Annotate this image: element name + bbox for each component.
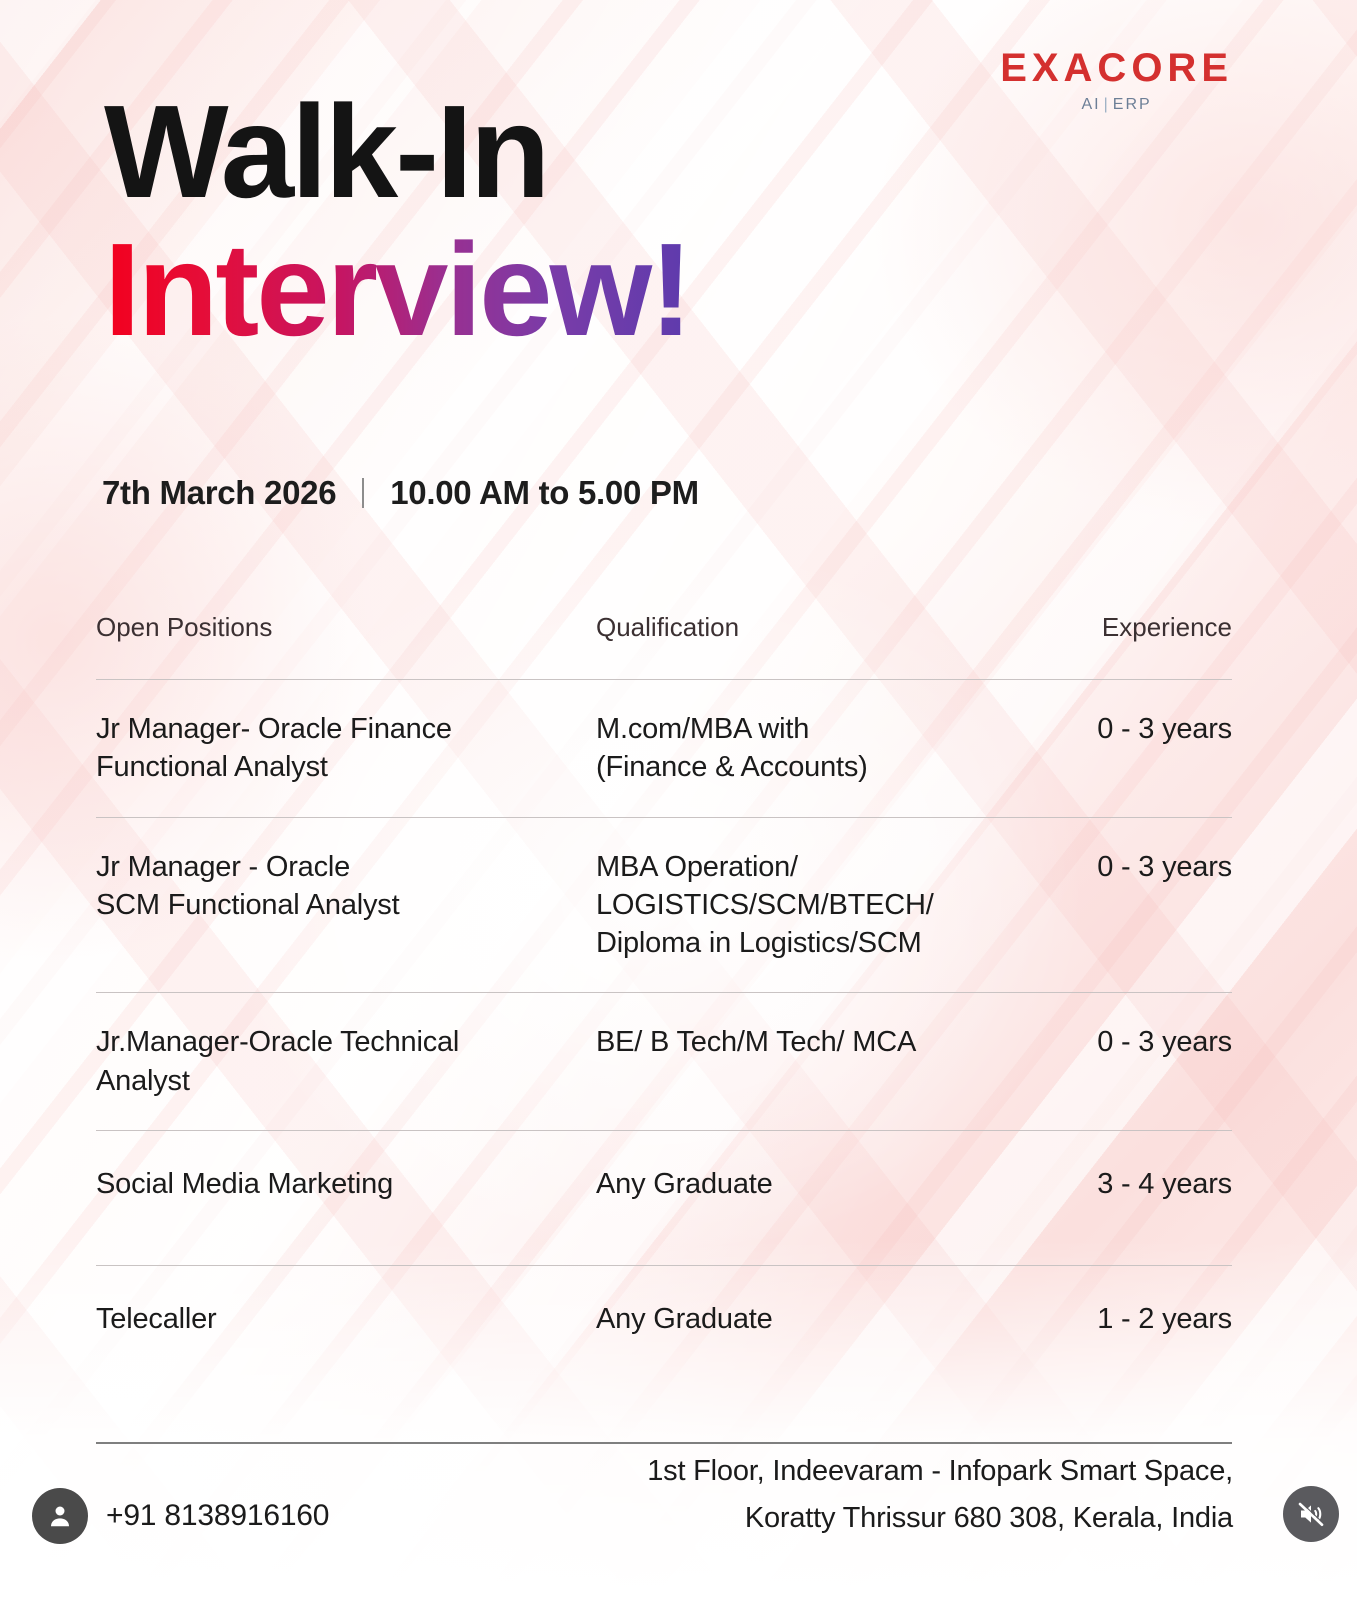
table-header-row: Open Positions Qualification Experience bbox=[96, 612, 1232, 679]
column-header-qualification: Qualification bbox=[596, 612, 1066, 643]
table-row: Jr.Manager-Oracle Technical Analyst BE/ … bbox=[96, 993, 1232, 1130]
position-line: Jr Manager - Oracle bbox=[96, 848, 596, 886]
position-line: Social Media Marketing bbox=[96, 1165, 596, 1203]
cell-position: Social Media Marketing bbox=[96, 1165, 596, 1203]
position-line: Telecaller bbox=[96, 1300, 596, 1338]
position-line: Functional Analyst bbox=[96, 748, 596, 786]
event-date: 7th March 2026 bbox=[102, 474, 336, 512]
footer-separator bbox=[96, 1442, 1232, 1444]
headline-line-walk-in: Walk-In bbox=[104, 84, 690, 220]
address-line-1: 1st Floor, Indeevaram - Infopark Smart S… bbox=[647, 1448, 1233, 1495]
position-line: SCM Functional Analyst bbox=[96, 886, 596, 924]
qualification-line: Any Graduate bbox=[596, 1165, 1066, 1203]
cell-experience: 1 - 2 years bbox=[1066, 1300, 1232, 1338]
logo-tagline-separator: | bbox=[1104, 96, 1110, 113]
cell-qualification: BE/ B Tech/M Tech/ MCA bbox=[596, 1023, 1066, 1061]
address-line-2: Koratty Thrissur 680 308, Kerala, India bbox=[647, 1495, 1233, 1542]
cell-qualification: Any Graduate bbox=[596, 1165, 1066, 1203]
cell-qualification: MBA Operation/ LOGISTICS/SCM/BTECH/ Dipl… bbox=[596, 848, 1066, 963]
column-header-open-positions: Open Positions bbox=[96, 612, 596, 643]
cell-experience: 0 - 3 years bbox=[1066, 1023, 1232, 1061]
logo-tagline-erp: ERP bbox=[1113, 96, 1152, 113]
qualification-line: M.com/MBA with bbox=[596, 710, 1066, 748]
table-row: Jr Manager- Oracle Finance Functional An… bbox=[96, 680, 1232, 817]
logo-brand-text: EXACORE bbox=[1000, 48, 1233, 88]
position-line: Jr Manager- Oracle Finance bbox=[96, 710, 596, 748]
logo-tagline: AI|ERP bbox=[1000, 97, 1233, 113]
cell-experience: 3 - 4 years bbox=[1066, 1165, 1232, 1203]
datetime-separator bbox=[362, 478, 364, 508]
qualification-line: (Finance & Accounts) bbox=[596, 748, 1066, 786]
phone-number: +91 8138916160 bbox=[106, 1499, 329, 1533]
position-line: Analyst bbox=[96, 1062, 596, 1100]
cell-position: Jr Manager - Oracle SCM Functional Analy… bbox=[96, 848, 596, 925]
person-icon bbox=[32, 1488, 88, 1544]
event-datetime: 7th March 2026 10.00 AM to 5.00 PM bbox=[102, 474, 699, 512]
cell-position: Jr.Manager-Oracle Technical Analyst bbox=[96, 1023, 596, 1100]
cell-position: Telecaller bbox=[96, 1300, 596, 1338]
event-time: 10.00 AM to 5.00 PM bbox=[390, 474, 699, 512]
speaker-muted-icon[interactable] bbox=[1283, 1486, 1339, 1542]
cell-qualification: M.com/MBA with (Finance & Accounts) bbox=[596, 710, 1066, 787]
qualification-line: BE/ B Tech/M Tech/ MCA bbox=[596, 1023, 1066, 1061]
open-positions-table: Open Positions Qualification Experience … bbox=[96, 612, 1232, 1400]
contact-phone: +91 8138916160 bbox=[32, 1488, 329, 1544]
company-logo: EXACORE AI|ERP bbox=[1000, 48, 1233, 113]
table-row: Jr Manager - Oracle SCM Functional Analy… bbox=[96, 818, 1232, 993]
table-row: Social Media Marketing Any Graduate 3 - … bbox=[96, 1131, 1232, 1265]
qualification-line: MBA Operation/ bbox=[596, 848, 1066, 886]
position-line: Jr.Manager-Oracle Technical bbox=[96, 1023, 596, 1061]
cell-experience: 0 - 3 years bbox=[1066, 848, 1232, 886]
qualification-line: Any Graduate bbox=[596, 1300, 1066, 1338]
cell-experience: 0 - 3 years bbox=[1066, 710, 1232, 748]
page-title: Walk-In Interview! bbox=[104, 84, 690, 358]
cell-position: Jr Manager- Oracle Finance Functional An… bbox=[96, 710, 596, 787]
headline-line-interview: Interview! bbox=[104, 222, 690, 358]
qualification-line: Diploma in Logistics/SCM bbox=[596, 924, 1066, 962]
cell-qualification: Any Graduate bbox=[596, 1300, 1066, 1338]
qualification-line: LOGISTICS/SCM/BTECH/ bbox=[596, 886, 1066, 924]
logo-tagline-ai: AI bbox=[1082, 96, 1101, 113]
column-header-experience: Experience bbox=[1066, 612, 1232, 643]
office-address: 1st Floor, Indeevaram - Infopark Smart S… bbox=[647, 1448, 1233, 1542]
walk-in-interview-poster: EXACORE AI|ERP Walk-In Interview! 7th Ma… bbox=[0, 0, 1357, 1600]
table-row: Telecaller Any Graduate 1 - 2 years bbox=[96, 1266, 1232, 1400]
